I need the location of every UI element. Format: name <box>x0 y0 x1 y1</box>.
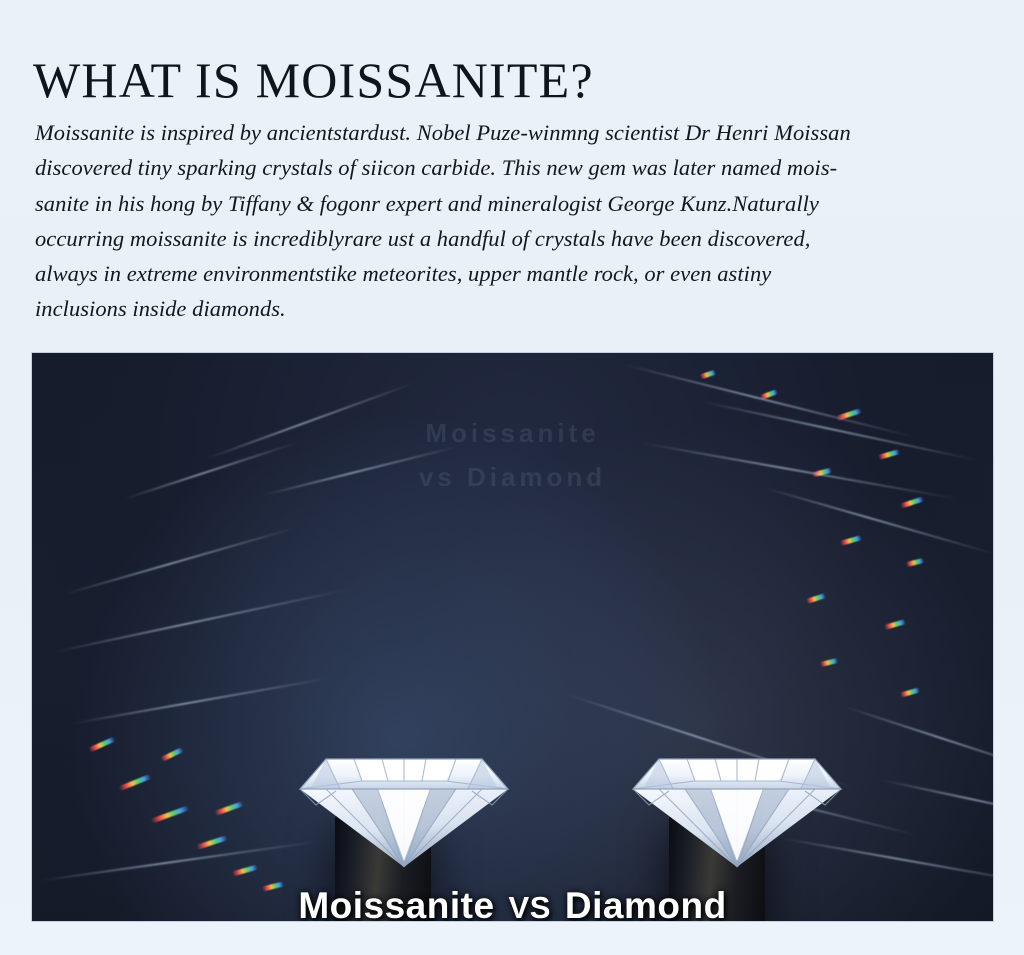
paragraph-line: Moissanite is inspired by ancientstardus… <box>35 115 1010 150</box>
paragraph-line: inclusions inside diamonds. <box>35 291 1010 326</box>
intro-paragraph: Moissanite is inspired by ancientstardus… <box>35 115 1010 327</box>
brilliant-cut-diamond-icon <box>629 751 845 869</box>
paragraph-line: discovered tiny sparking crystals of sii… <box>35 150 1010 185</box>
paragraph-line: sanite in his hong by Tiffany & fogonr e… <box>35 186 1010 221</box>
paragraph-line: always in extreme environmentstike meteo… <box>35 256 1010 291</box>
comparison-heading: MoissaniteVSDiamond <box>32 885 993 921</box>
product-description-page: WHAT IS MOISSANITE? Moissanite is inspir… <box>0 0 1024 955</box>
photo-background <box>32 353 993 921</box>
page-title: WHAT IS MOISSANITE? <box>33 55 594 105</box>
comparison-photo: Moissanitevs Diamond <box>32 353 993 921</box>
right-gem-name: Diamond <box>565 885 727 921</box>
brilliant-cut-diamond-icon <box>296 751 512 869</box>
left-gem-name: Moissanite <box>298 885 494 921</box>
versus-label: VS <box>509 890 551 921</box>
paragraph-line: occurring moissanite is incrediblyrare u… <box>35 221 1010 256</box>
